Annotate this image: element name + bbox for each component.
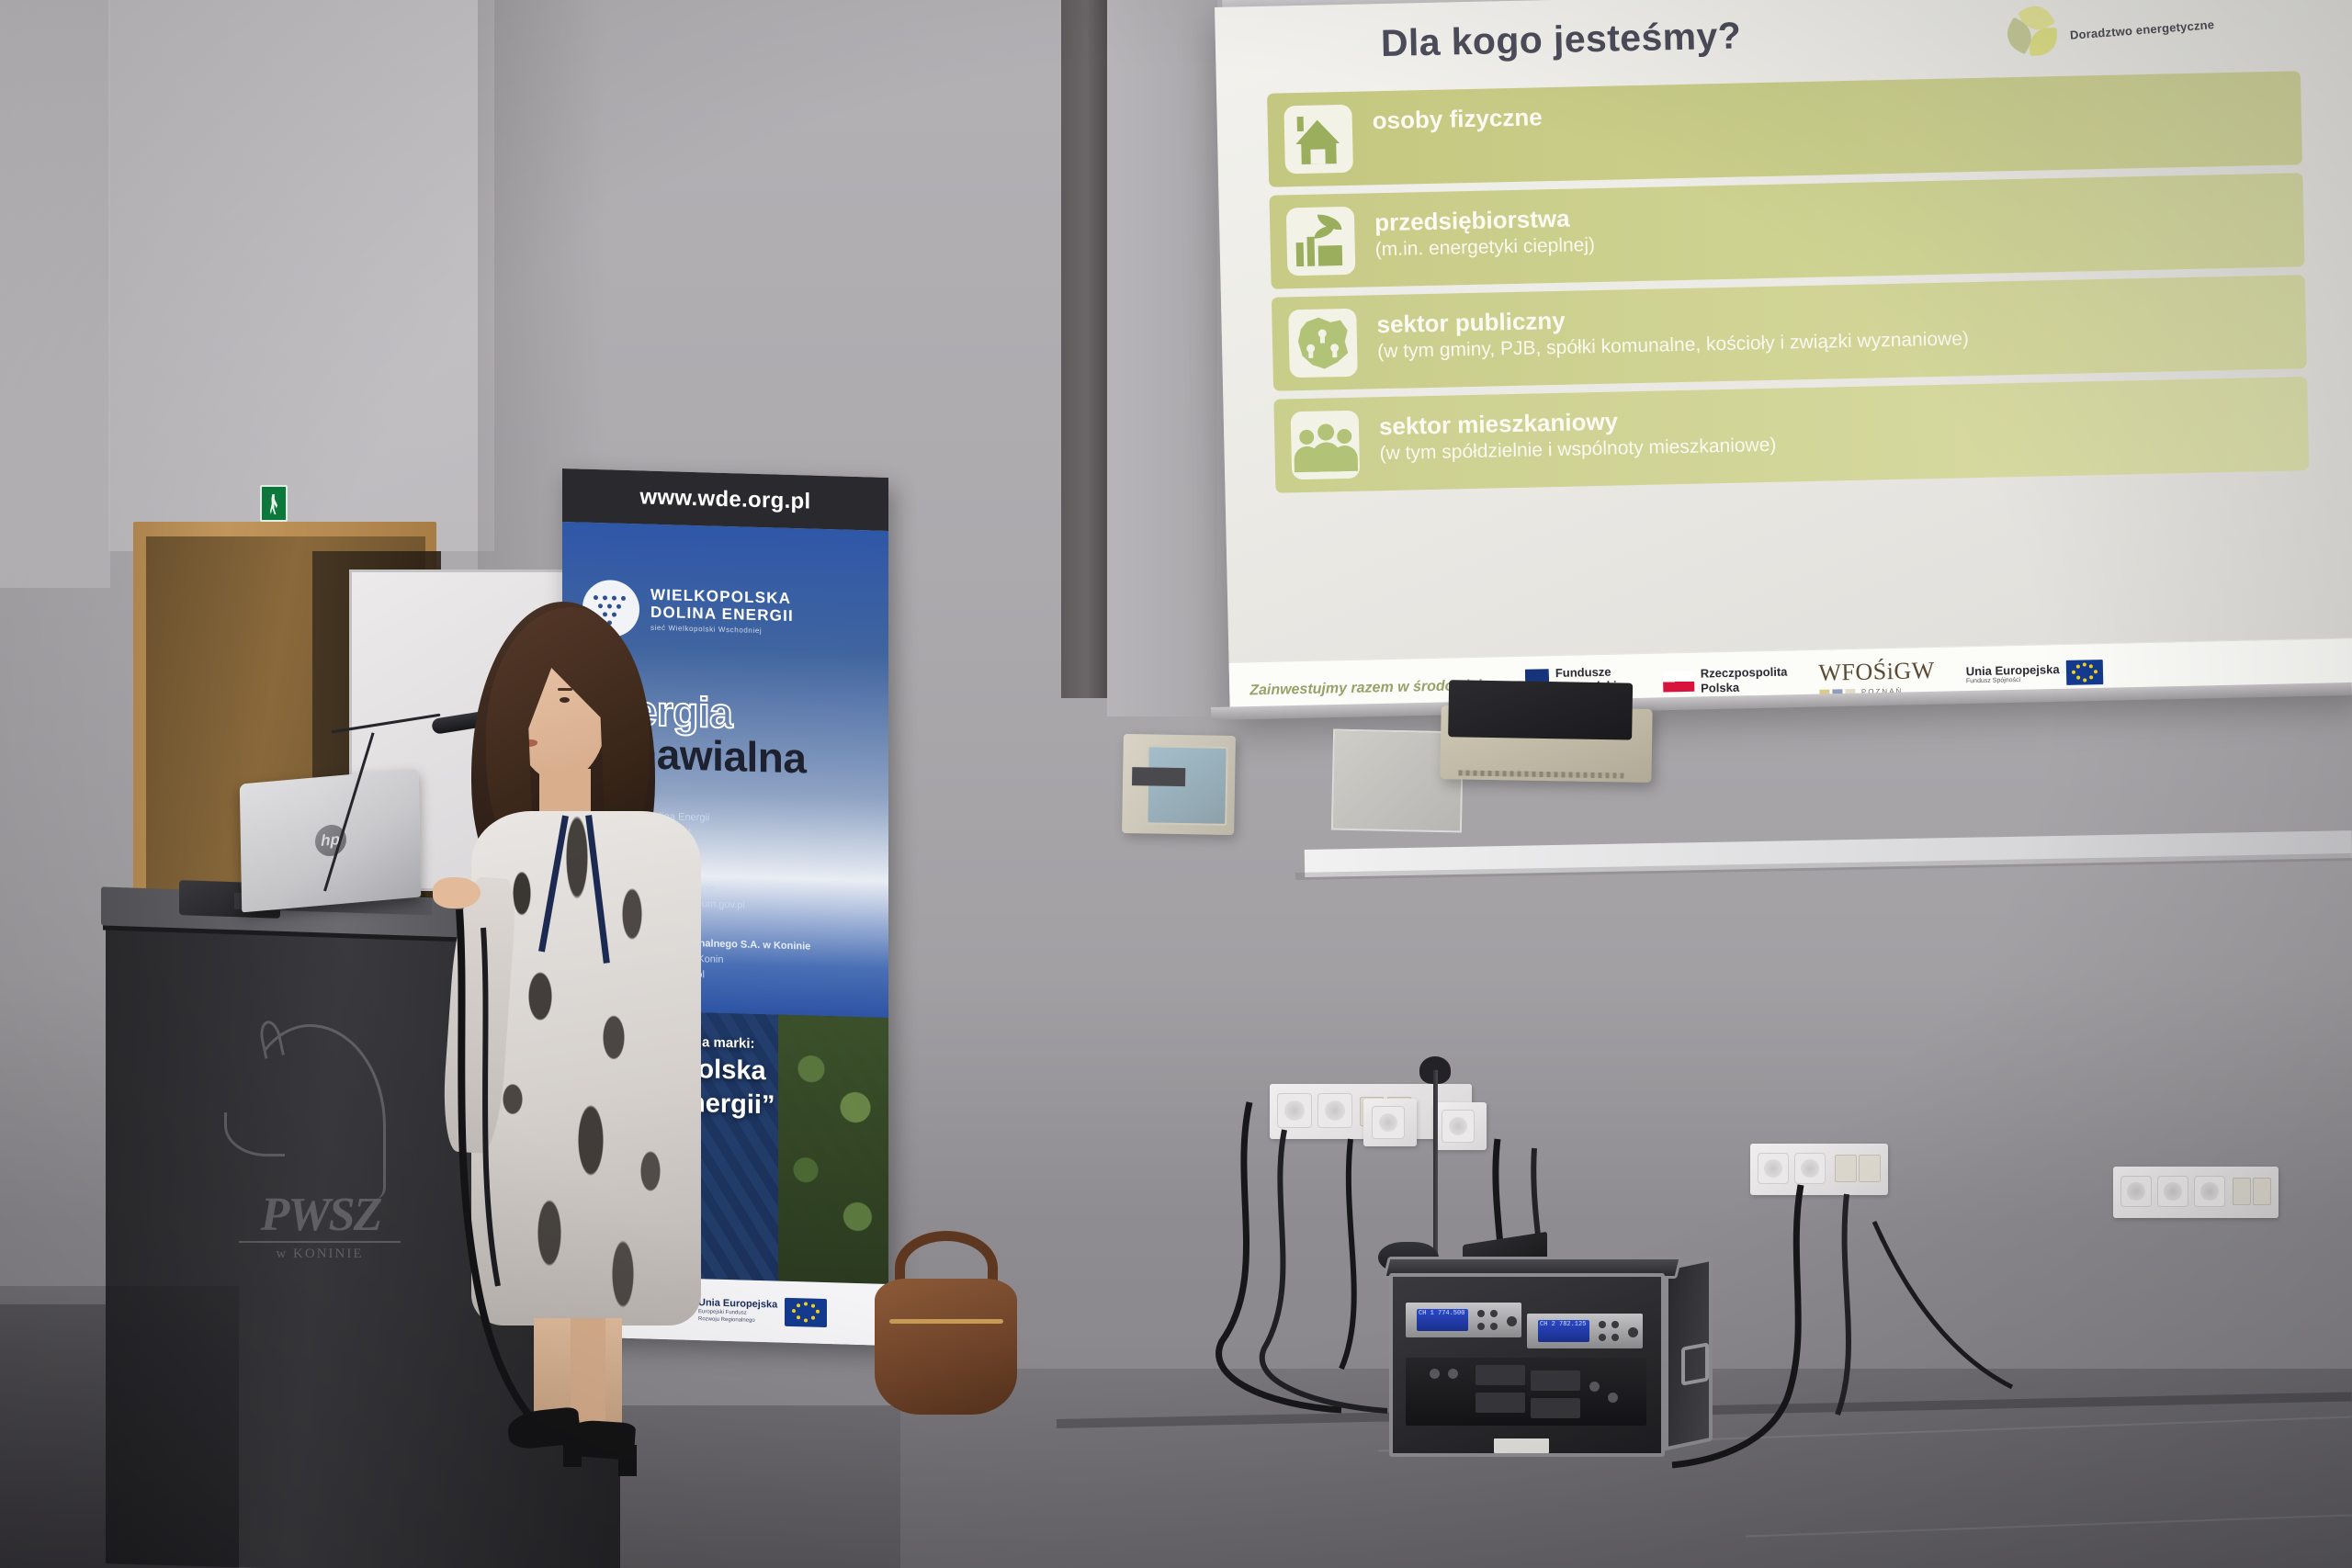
wireless-receiver-1[interactable]: CH 1 774.500 <box>1406 1303 1521 1337</box>
eu-flag-icon <box>2065 660 2103 685</box>
ue-label: Unia Europejska Fundusz Spójności <box>1966 662 2060 686</box>
rzecz-label: Rzeczpospolita Polska <box>1701 665 1788 695</box>
foreground-shadow <box>0 1286 239 1568</box>
shoe-heel-right <box>618 1445 637 1476</box>
laptop[interactable]: hp <box>240 769 421 913</box>
wall-pillar <box>1061 0 1107 698</box>
slide-row: przedsiębiorstwa (m.in. energetyki ciepl… <box>1269 173 2304 289</box>
slide: Dla kogo jesteśmy? Doradztwo energetyczn… <box>1215 0 2352 719</box>
eye-right <box>560 697 570 703</box>
control-box-vent <box>1458 770 1623 778</box>
pinwheel-icon <box>2003 2 2063 62</box>
electrical-distribution-box[interactable] <box>1122 734 1236 835</box>
fundusze-line-1: Fundusze <box>1555 664 1632 680</box>
banner-url-text: www.wde.org.pl <box>640 484 811 514</box>
brow-right <box>558 688 572 691</box>
row-text: sektor publiczny (w tym gminy, PJB, spół… <box>1376 295 1969 364</box>
rack-handle[interactable] <box>1681 1342 1709 1385</box>
ue-sub: Fundusz Spójności <box>1966 676 2060 685</box>
emergency-exit-sign <box>260 485 288 522</box>
horse-muzzle-icon <box>224 1112 285 1156</box>
eu-flag-icon <box>785 1298 827 1327</box>
rack-amplifier[interactable] <box>1406 1358 1646 1426</box>
rack-id-label <box>1494 1438 1549 1453</box>
wall-panel-left-2 <box>108 0 494 551</box>
wfos-wordmark: WFOŚiGW <box>1818 657 1935 687</box>
pwsz-wordmark: PWSZ <box>243 1188 399 1242</box>
slide-row: sektor mieszkaniowy (w tym spółdzielnie … <box>1273 377 2309 493</box>
horse-head-icon <box>239 1024 386 1199</box>
row-text: sektor mieszkaniowy (w tym spółdzielnie … <box>1379 401 1777 466</box>
breaker-row <box>1132 767 1185 786</box>
pwsz-logo: PWSZ w KONINIE <box>230 1024 423 1281</box>
brand-label: Doradztwo energetyczne <box>2069 17 2214 42</box>
handbag-zipper <box>889 1319 1003 1324</box>
wall-panel-left <box>0 0 110 588</box>
data-port[interactable] <box>2253 1178 2271 1205</box>
projector-control-box[interactable] <box>1440 705 1652 783</box>
slide-row: sektor publiczny (w tym gminy, PJB, spół… <box>1272 275 2307 391</box>
photo-scene: www.wde.org.pl WIELKOPOLSKA DOLINA ENERG… <box>0 0 2352 1568</box>
row-title: przedsiębiorstwa <box>1374 205 1595 236</box>
wall-pillar-face <box>1107 0 1217 716</box>
rack-front: CH 1 774.500 CH 2 782.125 <box>1389 1273 1665 1457</box>
wireless-receiver-2[interactable]: CH 2 782.125 <box>1527 1314 1643 1348</box>
footer-logo-rzeczpospolita: Rzeczpospolita Polska <box>1663 665 1788 696</box>
pwsz-sub-label: w KONINIE <box>239 1247 401 1262</box>
map-poland-icon <box>1288 309 1358 378</box>
slide-title: Dla kogo jesteśmy? <box>1380 12 1859 65</box>
rzecz-line-2: Polska <box>1701 679 1788 694</box>
cable-podium <box>395 909 597 1424</box>
pwsz-rule <box>239 1241 401 1243</box>
receiver-1-display: CH 1 774.500 <box>1417 1309 1468 1331</box>
cable-bundle-right <box>1700 1185 2177 1479</box>
row-text: osoby fizyczne <box>1372 100 1543 134</box>
hand <box>433 877 481 908</box>
row-title: osoby fizyczne <box>1372 104 1543 134</box>
rzecz-line-1: Rzeczpospolita <box>1701 665 1788 681</box>
receiver-2-display: CH 2 782.125 <box>1538 1320 1589 1342</box>
shoe-heel-left <box>563 1436 582 1467</box>
factory-icon <box>1286 207 1356 276</box>
control-box-glass <box>1448 680 1633 739</box>
slide-row: osoby fizyczne <box>1267 71 2302 187</box>
slide-rows: osoby fizyczne przedsiębiorstwa (m.in. e… <box>1267 71 2309 501</box>
poland-flag-icon <box>1663 671 1694 692</box>
projection-screen: Dla kogo jesteśmy? Doradztwo energetyczn… <box>1215 0 2352 719</box>
audio-rack-case: CH 1 774.500 CH 2 782.125 <box>1389 1257 1711 1477</box>
house-icon <box>1283 105 1353 175</box>
row-text: przedsiębiorstwa (m.in. energetyki ciepl… <box>1374 201 1596 262</box>
brand-logo: Doradztwo energetyczne <box>2003 0 2216 67</box>
handbag <box>875 1231 1017 1415</box>
power-socket[interactable] <box>2194 1176 2225 1207</box>
people-icon <box>1291 411 1361 480</box>
row-sub: (m.in. energetyki cieplnej) <box>1375 233 1596 262</box>
banner-url-bar: www.wde.org.pl <box>562 468 888 531</box>
footer-logo-ue: Unia Europejska Fundusz Spójności <box>1966 660 2103 687</box>
data-port[interactable] <box>2233 1178 2251 1205</box>
handbag-body <box>875 1279 1017 1415</box>
ue-name: Unia Europejska <box>1966 662 2060 679</box>
